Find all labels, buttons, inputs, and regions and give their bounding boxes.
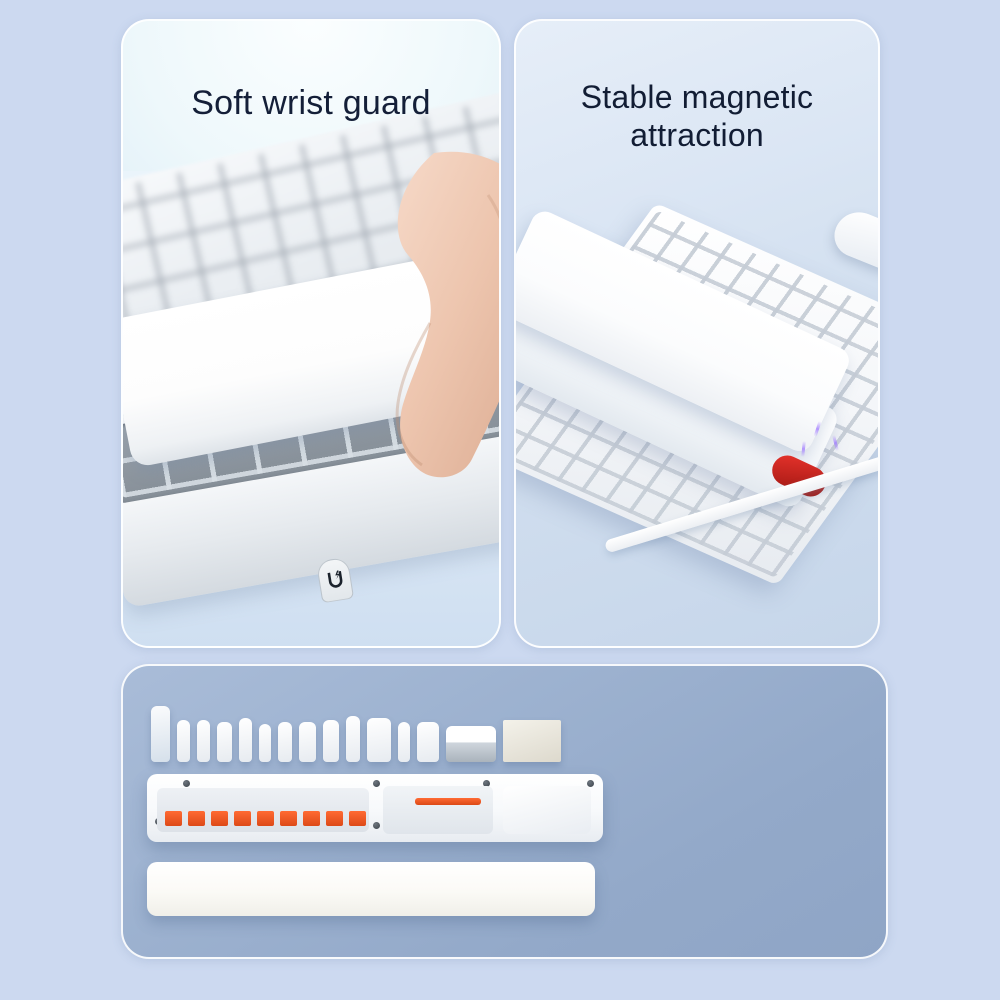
panel-2-caption: Stable magnetic attraction — [516, 79, 878, 155]
cloth-compartment — [503, 786, 591, 834]
panel-2-caption-line2: attraction — [516, 117, 878, 155]
hand-photo — [338, 151, 501, 481]
keycap-brush — [217, 722, 232, 762]
tool-clip — [188, 811, 205, 826]
small-brush — [259, 724, 271, 762]
cleaning-pen — [197, 720, 210, 762]
tool-clip-strip — [157, 788, 369, 832]
mouse — [828, 205, 880, 275]
panel-stable-magnetic-attraction: Stable magnetic attraction — [514, 19, 880, 648]
panel-2-caption-line1: Stable magnetic — [516, 79, 878, 117]
tool-clip — [165, 811, 182, 826]
wide-brush — [446, 726, 496, 762]
tool-clip — [326, 811, 343, 826]
orange-bar — [415, 798, 481, 805]
spray-nozzle — [323, 720, 339, 762]
panel-multiple-tools-deep-cleaning: Multiple tools Deep cleaning — [121, 664, 888, 959]
open-storage-case — [147, 774, 603, 842]
tool-clip — [303, 811, 320, 826]
product-feature-collage: Soft wrist guard — [0, 0, 1000, 1000]
sponge-stick — [278, 722, 292, 762]
tweezer-tool — [398, 722, 410, 762]
wire-keycap-puller — [417, 722, 439, 762]
tool-clip — [349, 811, 366, 826]
center-compartment — [383, 786, 493, 834]
keycap-puller — [367, 718, 391, 762]
microfiber-cloth — [503, 720, 561, 762]
detached-wrist-rest — [147, 862, 595, 916]
cleaning-tool-row — [151, 684, 599, 762]
flocking-swab — [239, 718, 252, 762]
tool-clip — [211, 811, 228, 826]
panel-1-caption: Soft wrist guard — [123, 83, 499, 123]
tool-clip — [234, 811, 251, 826]
cotton-swab-large — [177, 720, 190, 762]
spray-bottle — [151, 706, 170, 762]
tube-tool — [346, 716, 360, 762]
tool-clip — [257, 811, 274, 826]
tool-clip — [280, 811, 297, 826]
cleaning-block — [299, 722, 316, 762]
panel-soft-wrist-guard: Soft wrist guard — [121, 19, 501, 648]
